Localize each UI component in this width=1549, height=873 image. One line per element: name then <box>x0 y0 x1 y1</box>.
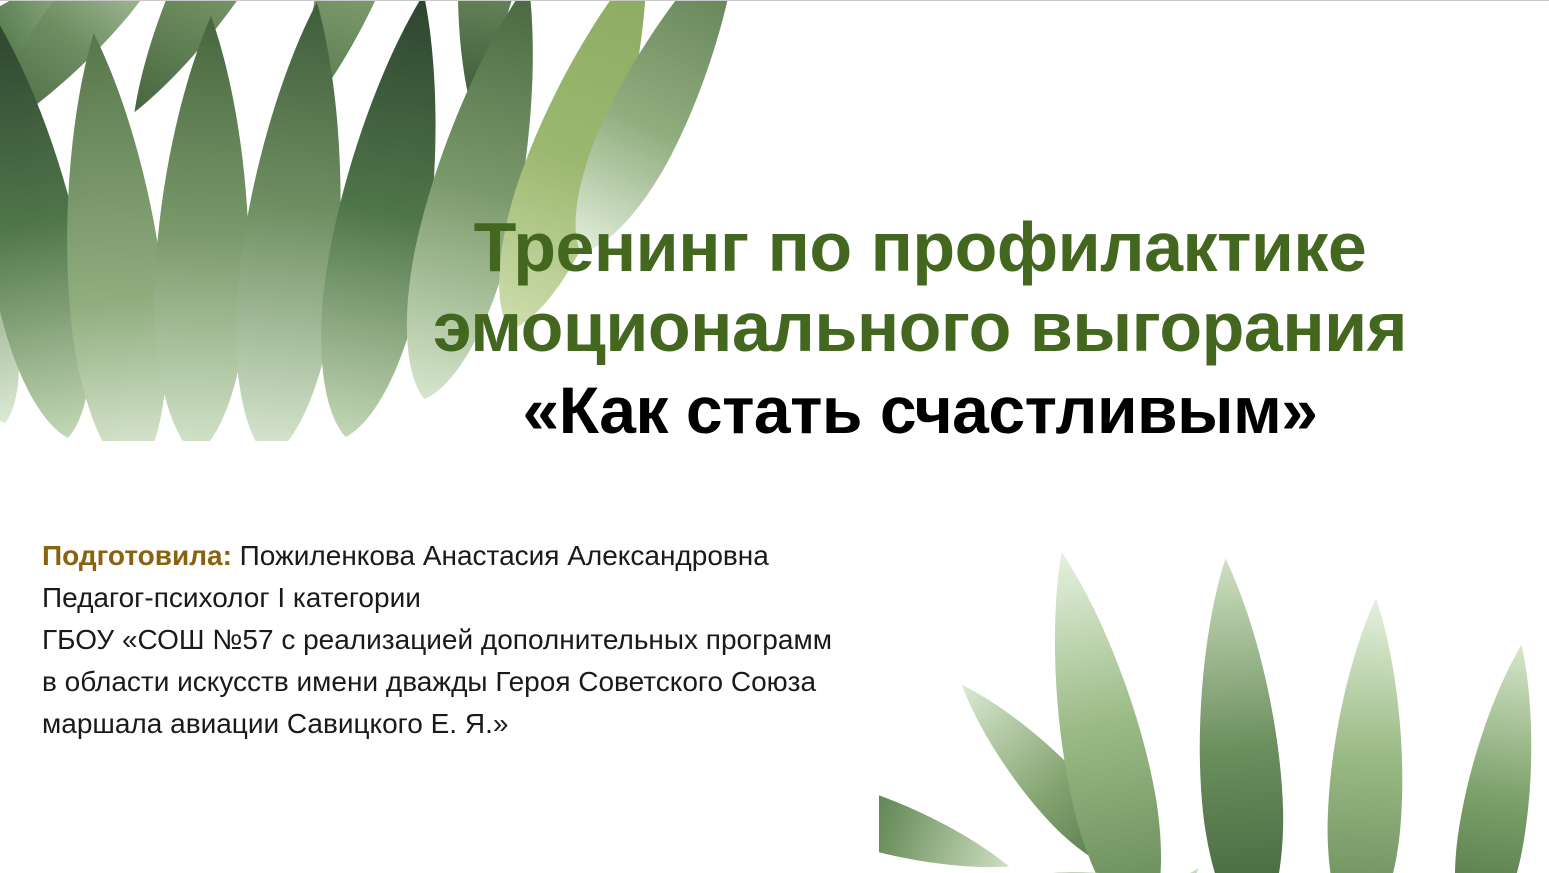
prepared-by-label: Подготовила: <box>42 540 232 571</box>
leaf-group-upper-row <box>0 0 548 167</box>
author-name: Пожиленкова Анастасия Александровна <box>240 540 769 571</box>
title-subtitle-quoted: «Как стать счастливым» <box>330 367 1510 453</box>
presentation-slide: Тренинг по профилактике эмоционального в… <box>0 0 1549 873</box>
credit-line-school-2: в области искусств имени дважды Героя Со… <box>42 661 1022 703</box>
credit-line-school-1: ГБОУ «СОШ №57 с реализацией дополнительн… <box>42 619 1022 661</box>
credit-line-position: Педагог-психолог I категории <box>42 577 1022 619</box>
author-credits-block: Подготовила: Пожиленкова Анастасия Алекс… <box>42 535 1022 745</box>
title-line-2: эмоционального выгорания <box>330 287 1510 367</box>
slide-title-block: Тренинг по профилактике эмоционального в… <box>330 207 1510 453</box>
title-line-1: Тренинг по профилактике <box>330 207 1510 287</box>
credit-line-school-3: маршала авиации Савицкого Е. Я.» <box>42 703 1022 745</box>
credit-line-author: Подготовила: Пожиленкова Анастасия Алекс… <box>42 535 1022 577</box>
